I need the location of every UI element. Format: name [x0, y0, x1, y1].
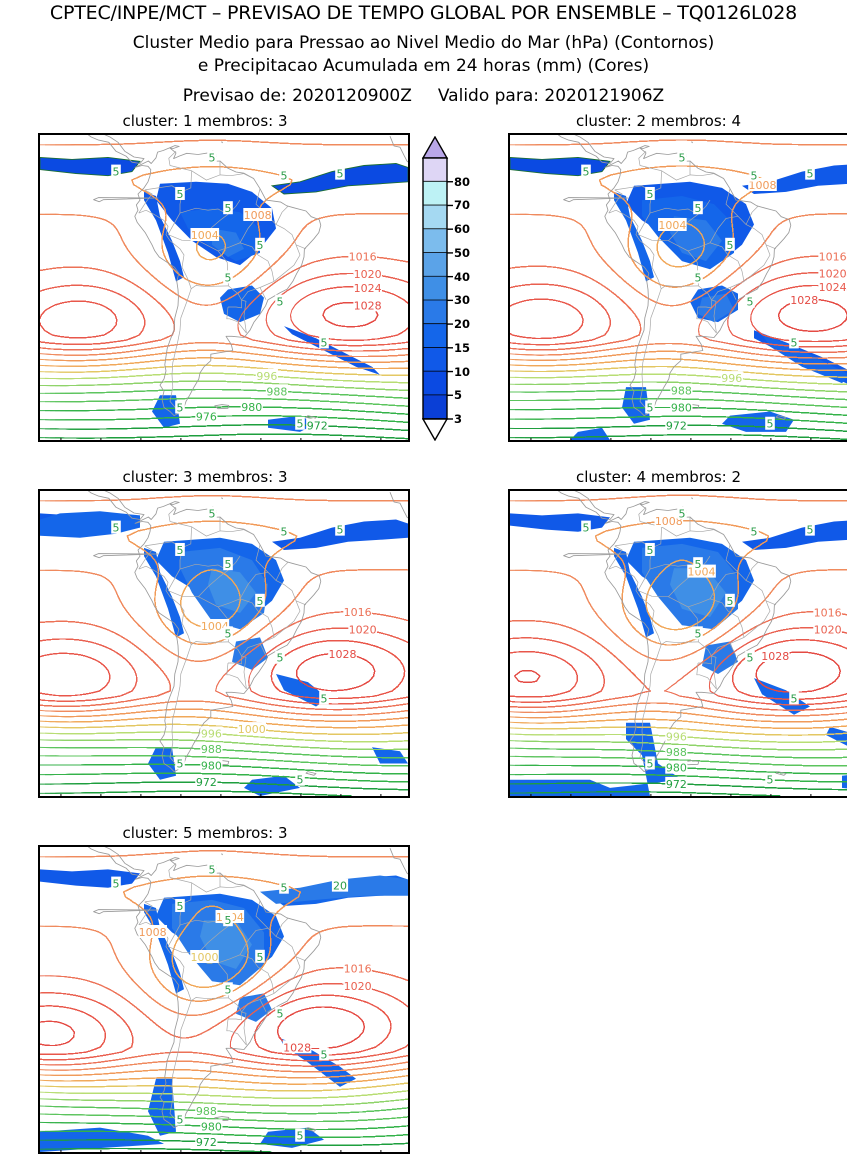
mslp-contour-line	[126, 724, 408, 734]
mslp-contour-line	[40, 285, 145, 340]
mslp-contour-line	[55, 398, 408, 406]
mslp-contour-line	[510, 284, 610, 334]
mslp-contour-line	[843, 439, 847, 440]
mslp-contour-line	[576, 408, 847, 417]
mslp-contour-line	[337, 328, 408, 340]
mslp-contour-line	[510, 300, 610, 345]
mslp-contour-line	[510, 299, 583, 338]
mslp-contour-line	[247, 256, 408, 308]
mslp-contour-line	[393, 421, 408, 422]
mslp-contour-line	[681, 399, 847, 409]
mslp-contour-line	[510, 299, 583, 338]
contour-label: 976	[196, 411, 217, 424]
colorbar-under-arrow	[423, 419, 447, 440]
mslp-contour-line	[393, 328, 408, 336]
mslp-contour-line	[510, 314, 583, 339]
precip-label: 5	[177, 188, 184, 201]
mslp-contour-line	[510, 284, 641, 350]
mslp-contour-line	[393, 725, 408, 726]
colorbar-band	[423, 300, 447, 324]
mslp-contour-line	[666, 344, 847, 359]
mslp-contour-line	[85, 740, 408, 750]
mslp-contour-line	[510, 284, 610, 342]
mslp-contour-line	[317, 328, 408, 340]
mslp-contour-line	[151, 709, 408, 721]
panel-cluster-2: cluster: 2 membros: 4 972980988996100410…	[470, 133, 847, 443]
mslp-contour-line	[151, 764, 408, 774]
mslp-contour-line	[510, 299, 583, 338]
precip-label: 5	[209, 151, 216, 164]
mslp-contour-line	[297, 274, 408, 286]
mslp-contour-line	[40, 301, 117, 331]
mslp-contour-line	[566, 408, 847, 417]
mslp-contour-line	[50, 390, 408, 399]
mslp-contour-line	[302, 328, 408, 340]
mslp-contour-line	[353, 718, 409, 722]
mslp-contour-line	[136, 717, 408, 728]
mslp-contour-line	[206, 398, 408, 406]
mslp-contour-line	[40, 310, 117, 338]
mslp-contour-line	[262, 368, 408, 375]
mslp-contour-line	[510, 299, 583, 338]
contour-label: 1028	[354, 299, 382, 312]
mslp-contour-line	[843, 342, 847, 346]
contour-label: 972	[666, 419, 687, 432]
mslp-contour-line	[40, 325, 145, 344]
mslp-contour-line	[288, 274, 408, 291]
mslp-contour-line	[510, 266, 641, 349]
mslp-contour-line	[70, 381, 408, 390]
mslp-contour-line	[510, 315, 583, 339]
mslp-contour-line	[299, 214, 408, 235]
mslp-contour-line	[40, 290, 145, 344]
mslp-contour-line	[510, 266, 641, 338]
map-plot-cluster-3[interactable]: 9729809889961000100410161020102855555555…	[38, 489, 410, 798]
mslp-contour-line	[166, 343, 408, 357]
mslp-contour-line	[510, 284, 610, 343]
mslp-contour-line	[40, 631, 170, 706]
precip-label: 5	[277, 296, 284, 309]
mslp-contour-line	[171, 496, 408, 501]
mslp-contour-line	[702, 435, 847, 441]
mslp-contour-line	[843, 362, 847, 364]
mslp-contour-line	[398, 711, 408, 712]
colorbar-label: 15	[454, 341, 470, 355]
mslp-contour-line	[510, 284, 610, 345]
mslp-contour-line	[40, 301, 117, 330]
precip-label: 5	[679, 151, 686, 164]
precip-label: 5	[747, 296, 754, 309]
mslp-contour-line	[40, 621, 170, 692]
mslp-contour-line	[40, 639, 137, 701]
precip-label: 5	[337, 168, 344, 181]
precip-label: 5	[807, 168, 814, 181]
mslp-contour-line	[843, 324, 847, 341]
colorbar-band	[423, 277, 447, 301]
colorbar-label: 3	[454, 412, 462, 426]
mslp-contour-line	[136, 724, 408, 734]
mslp-contour-line	[510, 284, 610, 335]
mslp-contour-line	[262, 214, 408, 275]
mslp-contour-line	[510, 284, 610, 345]
mslp-contour-line	[166, 140, 408, 145]
precip-label: 5	[225, 271, 232, 284]
mslp-contour-line	[287, 274, 408, 291]
mslp-contour-line	[843, 431, 847, 433]
mslp-contour-line	[45, 791, 352, 796]
mslp-contour-line	[40, 285, 145, 342]
mslp-contour-line	[267, 274, 408, 315]
panel-title-cluster-1: cluster: 1 membros: 3	[0, 112, 410, 130]
mslp-contour-line	[378, 290, 408, 304]
map-canvas: 9729809889961004100810161020102410285555…	[510, 135, 847, 440]
mslp-contour-line	[40, 267, 174, 346]
colorbar-label: 5	[454, 388, 462, 402]
mslp-contour-line	[256, 214, 409, 280]
mslp-contour-line	[40, 639, 137, 701]
mslp-contour-line	[510, 285, 641, 350]
mslp-contour-line	[45, 381, 408, 390]
mslp-contour-line	[40, 267, 174, 347]
mslp-contour-line	[510, 284, 610, 337]
colorbar-label: 50	[454, 246, 470, 260]
mslp-contour-line	[40, 285, 145, 343]
mslp-contour-line	[295, 214, 408, 240]
mslp-contour-line	[510, 299, 583, 330]
mslp-contour-line	[312, 570, 408, 579]
mslp-contour-line	[65, 398, 408, 406]
precip-label: 5	[177, 401, 184, 414]
panel-cluster-1: cluster: 1 membros: 3 972976980988996100…	[0, 133, 410, 443]
mslp-contour-line	[510, 284, 610, 345]
mslp-contour-line	[272, 369, 408, 375]
precip-label: 5	[695, 271, 702, 284]
map-plot-cluster-2[interactable]: 9729809889961004100810161020102410285555…	[508, 133, 847, 442]
mslp-contour-line	[171, 390, 408, 399]
mslp-contour-line	[40, 268, 174, 350]
mslp-contour-line	[596, 140, 847, 145]
mslp-contour-line	[566, 399, 847, 409]
mslp-contour-line	[393, 361, 408, 362]
mslp-contour-line	[510, 288, 610, 344]
mslp-contour-line	[242, 256, 408, 315]
mslp-contour-line	[671, 140, 847, 145]
contour-label: 988	[671, 385, 692, 398]
mslp-contour-line	[510, 266, 641, 340]
precip-label: 5	[113, 166, 120, 179]
mslp-contour-line	[315, 214, 408, 220]
country-border	[662, 161, 690, 180]
mslp-contour-line	[146, 717, 408, 728]
mslp-contour-line	[510, 315, 610, 345]
mslp-contour-line	[823, 324, 847, 342]
map-canvas: 9729769809889961004100810161020102410285…	[40, 135, 408, 440]
mslp-contour-line	[267, 256, 408, 288]
mslp-contour-line	[201, 398, 408, 406]
mslp-contour-line	[211, 710, 408, 721]
mslp-contour-line	[510, 299, 583, 338]
mslp-contour-line	[40, 269, 174, 350]
mslp-contour-line	[843, 355, 847, 357]
mslp-contour-line	[843, 423, 847, 425]
mslp-contour-line	[712, 435, 847, 440]
mslp-contour-line	[40, 288, 174, 350]
mslp-contour-line	[510, 266, 641, 340]
mslp-contour-line	[510, 266, 641, 336]
mslp-contour-line	[560, 408, 847, 417]
mslp-contour-line	[40, 301, 117, 325]
mslp-contour-line	[55, 390, 408, 399]
mslp-contour-line	[40, 621, 170, 706]
mslp-contour-line	[96, 140, 409, 145]
mslp-contour-line	[317, 570, 408, 576]
mslp-contour-line	[166, 709, 408, 721]
mslp-contour-line	[266, 320, 408, 346]
mslp-contour-line	[510, 278, 641, 350]
mslp-contour-line	[666, 140, 847, 145]
mslp-contour-line	[40, 676, 170, 706]
mslp-contour-line	[40, 621, 170, 705]
mslp-contour-line	[186, 358, 408, 369]
mslp-contour-line	[80, 343, 408, 357]
mslp-contour-line	[833, 324, 847, 342]
mslp-contour-line	[728, 315, 847, 347]
map-plot-cluster-1[interactable]: 9729769809889961004100810161020102410285…	[38, 133, 410, 442]
mslp-contour-line	[40, 302, 117, 338]
mslp-contour-line	[40, 277, 174, 350]
mslp-contour-line	[257, 368, 408, 375]
mslp-contour-line	[80, 740, 408, 750]
mslp-contour-line	[40, 282, 174, 350]
mslp-contour-line	[292, 287, 408, 310]
mslp-contour-line	[171, 717, 408, 728]
mslp-contour-line	[40, 621, 170, 706]
mslp-contour-line	[116, 343, 408, 357]
mslp-contour-line	[818, 324, 847, 342]
mslp-contour-line	[343, 704, 409, 710]
mslp-contour-line	[222, 742, 409, 750]
mslp-contour-line	[60, 717, 408, 728]
forecast-run-line: Previsao de: 2020120900ZValido para: 202…	[0, 86, 847, 106]
mslp-contour-line	[254, 256, 408, 300]
mslp-contour-line	[383, 328, 408, 338]
mslp-contour-line	[393, 398, 408, 399]
mslp-contour-line	[40, 621, 170, 694]
mslp-contour-line	[686, 391, 847, 401]
mslp-contour-line	[757, 214, 847, 251]
precip-label: 5	[225, 202, 232, 215]
mslp-contour-line	[281, 370, 408, 375]
contour-label: 1028	[790, 294, 818, 307]
mslp-contour-line	[510, 299, 583, 338]
mslp-contour-line	[40, 268, 174, 350]
mslp-contour-line	[510, 299, 583, 338]
mslp-contour-line	[287, 570, 408, 608]
mslp-contour-line	[40, 621, 170, 706]
panel-title-cluster-2: cluster: 2 membros: 4	[470, 112, 847, 130]
mslp-contour-line	[267, 369, 408, 376]
mslp-contour-line	[510, 284, 610, 345]
mslp-contour-line	[206, 710, 408, 722]
mslp-contour-line	[510, 284, 610, 345]
mslp-contour-line	[141, 717, 408, 728]
mslp-contour-line	[762, 214, 847, 246]
mslp-contour-line	[292, 570, 408, 602]
mslp-contour-line	[40, 621, 170, 699]
mslp-contour-line	[388, 349, 408, 351]
valid-for-label: Valido para: 2020121906Z	[438, 86, 664, 106]
mslp-contour-line	[581, 382, 847, 393]
mslp-contour-line	[283, 214, 408, 255]
mslp-contour-line	[40, 390, 408, 399]
mslp-contour-line	[681, 344, 847, 358]
colorbar-label: 80	[454, 175, 470, 189]
mslp-contour-line	[40, 661, 170, 706]
mslp-contour-line	[121, 709, 408, 721]
mslp-contour-line	[267, 214, 408, 271]
mslp-contour-line	[307, 214, 408, 225]
mslp-contour-line	[843, 415, 847, 417]
mslp-contour-line	[510, 299, 583, 338]
mslp-contour-line	[257, 214, 408, 279]
panel-cluster-3: cluster: 3 membros: 3 972980988996100010…	[0, 489, 410, 799]
mslp-contour-line	[40, 639, 137, 701]
contour-label: 1008	[244, 209, 272, 222]
mslp-contour-line	[40, 686, 170, 706]
mslp-contour-line	[65, 390, 408, 399]
mslp-contour-line	[322, 570, 408, 575]
mslp-contour-line	[302, 214, 408, 230]
mslp-contour-line	[252, 612, 409, 651]
mslp-contour-line	[40, 291, 145, 345]
mslp-contour-line	[50, 717, 408, 728]
mslp-contour-line	[797, 324, 847, 342]
mslp-contour-line	[510, 284, 610, 342]
mslp-contour-line	[337, 711, 408, 716]
mslp-contour-line	[364, 328, 408, 340]
mslp-contour-line	[174, 343, 408, 357]
mslp-contour-line	[40, 621, 170, 705]
contour-label: 980	[671, 402, 692, 415]
mslp-contour-line	[55, 381, 408, 390]
precip-label: 5	[791, 336, 798, 349]
mslp-contour-line	[75, 343, 408, 357]
mslp-contour-line	[146, 724, 408, 734]
mslp-contour-line	[301, 570, 408, 591]
mslp-contour-line	[40, 621, 170, 702]
mslp-contour-line	[40, 320, 117, 338]
mslp-contour-line	[40, 621, 170, 706]
contour-label: 996	[256, 370, 277, 383]
colorbar-label: 30	[454, 293, 470, 307]
country-border	[690, 174, 724, 179]
mslp-contour-line	[510, 299, 583, 338]
contour-label: 1004	[658, 219, 686, 232]
country-border	[276, 206, 288, 224]
mslp-contour-line	[510, 330, 641, 350]
mslp-contour-line	[267, 570, 408, 626]
mslp-contour-line	[307, 570, 408, 583]
mslp-contour-line	[510, 281, 641, 350]
mslp-contour-line	[322, 328, 408, 340]
mslp-contour-line	[606, 140, 847, 145]
mslp-contour-line	[40, 300, 145, 344]
mslp-contour-line	[40, 310, 117, 338]
precip-label: 5	[321, 336, 328, 349]
mslp-contour-line	[510, 266, 641, 349]
mslp-contour-line	[510, 284, 610, 340]
mslp-contour-line	[272, 214, 408, 266]
mslp-contour-line	[707, 435, 847, 441]
precip-label: 5	[695, 202, 702, 215]
mslp-contour-line	[277, 370, 408, 376]
mslp-contour-line	[510, 276, 641, 350]
mslp-contour-line	[510, 295, 641, 350]
precip-label: 5	[751, 170, 758, 183]
mslp-contour-line	[40, 639, 137, 701]
mslp-contour-line	[40, 320, 145, 344]
mslp-contour-line	[266, 315, 408, 346]
mslp-contour-line	[40, 621, 170, 706]
mslp-contour-line	[40, 301, 145, 344]
colorbar-band	[423, 205, 447, 229]
mslp-contour-line	[40, 305, 145, 344]
mslp-contour-line	[40, 621, 170, 706]
contour-label: 1020	[819, 268, 847, 281]
mslp-contour-line	[90, 740, 408, 750]
colorbar-band	[423, 348, 447, 372]
colorbar-over-arrow	[423, 137, 447, 158]
precipitation-region	[220, 286, 264, 323]
subtitle-line-2: e Precipitacao Acumulada em 24 horas (mm…	[0, 56, 847, 76]
mslp-contour-line	[813, 324, 847, 342]
mslp-contour-line	[40, 315, 145, 344]
mslp-contour-line	[510, 299, 583, 338]
mslp-contour-line	[510, 305, 641, 350]
precip-label: 5	[727, 239, 734, 252]
mslp-contour-line	[586, 382, 847, 393]
precipitation-region	[722, 412, 794, 432]
mslp-contour-line	[510, 299, 583, 335]
mslp-contour-line	[510, 310, 641, 350]
mslp-contour-line	[265, 256, 408, 290]
mslp-contour-line	[510, 284, 610, 344]
mslp-contour-line	[510, 299, 583, 338]
mslp-contour-line	[510, 320, 610, 345]
mslp-contour-line	[702, 400, 847, 409]
mslp-contour-line	[242, 407, 408, 414]
mslp-contour-line	[282, 274, 408, 295]
mslp-contour-line	[510, 299, 583, 337]
mslp-contour-line	[60, 398, 408, 406]
mslp-contour-line	[393, 733, 408, 734]
mslp-contour-line	[45, 724, 408, 734]
mslp-contour-line	[272, 274, 408, 305]
mslp-contour-line	[40, 267, 174, 343]
mslp-contour-line	[40, 270, 174, 350]
mslp-contour-line	[510, 284, 610, 345]
mslp-contour-line	[510, 284, 610, 345]
mslp-contour-line	[393, 405, 408, 406]
precipitation-region	[40, 511, 140, 538]
mslp-contour-line	[510, 305, 583, 339]
mslp-contour-line	[40, 301, 117, 336]
mslp-contour-line	[40, 621, 170, 701]
contour-label: 1024	[354, 282, 382, 295]
contour-label: 1016	[349, 251, 377, 264]
precip-label: 5	[583, 166, 590, 179]
mslp-contour-line	[373, 328, 408, 339]
